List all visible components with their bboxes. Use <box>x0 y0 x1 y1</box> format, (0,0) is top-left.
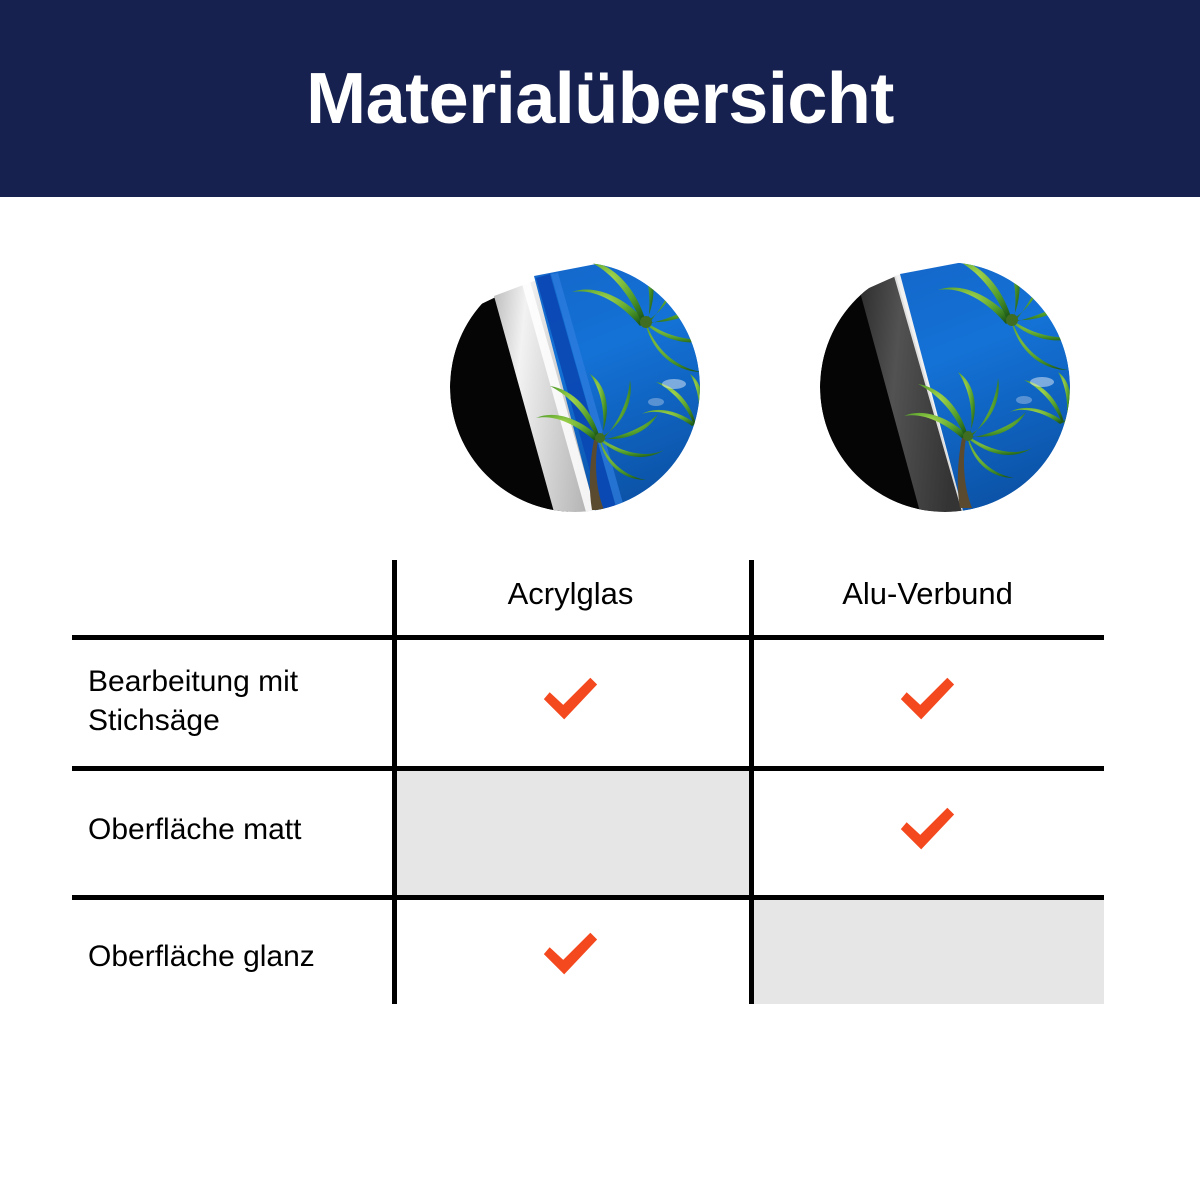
table-row-divider-1 <box>72 635 1104 640</box>
alu-verbund-sample-image <box>820 262 1070 512</box>
cell-acryl-oberflaeche-matt-unavailable <box>397 771 749 895</box>
row-label-line-1: Bearbeitung mit <box>88 662 388 701</box>
check-icon-bearbeitung-acrylglas <box>539 670 601 732</box>
page-root: Materialübersicht <box>0 0 1200 1200</box>
product-image-row <box>0 262 1200 512</box>
row-label-line-2: Stichsäge <box>88 701 388 740</box>
table-column-header-acrylglas: Acrylglas <box>392 576 749 612</box>
table-column-divider-2 <box>749 560 754 1004</box>
page-title: Materialübersicht <box>306 63 894 135</box>
cell-alu-oberflaeche-glanz-unavailable <box>754 900 1104 1004</box>
check-icon-bearbeitung-alu-verbund <box>896 670 958 732</box>
table-row-label-oberflaeche-matt: Oberfläche matt <box>88 810 388 849</box>
table-row-label-bearbeitung: Bearbeitung mit Stichsäge <box>88 662 388 740</box>
header-banner: Materialübersicht <box>0 0 1200 197</box>
table-row-label-oberflaeche-glanz: Oberfläche glanz <box>88 937 388 976</box>
check-icon-oberflaeche-matt-alu-verbund <box>896 800 958 862</box>
table-column-header-alu-verbund: Alu-Verbund <box>749 576 1106 612</box>
table-row-divider-2 <box>72 766 1104 771</box>
acrylglas-sample-image <box>450 262 700 512</box>
table-row-divider-3 <box>72 895 1104 900</box>
check-icon-oberflaeche-glanz-acrylglas <box>539 925 601 987</box>
table-column-divider-1 <box>392 560 397 1004</box>
